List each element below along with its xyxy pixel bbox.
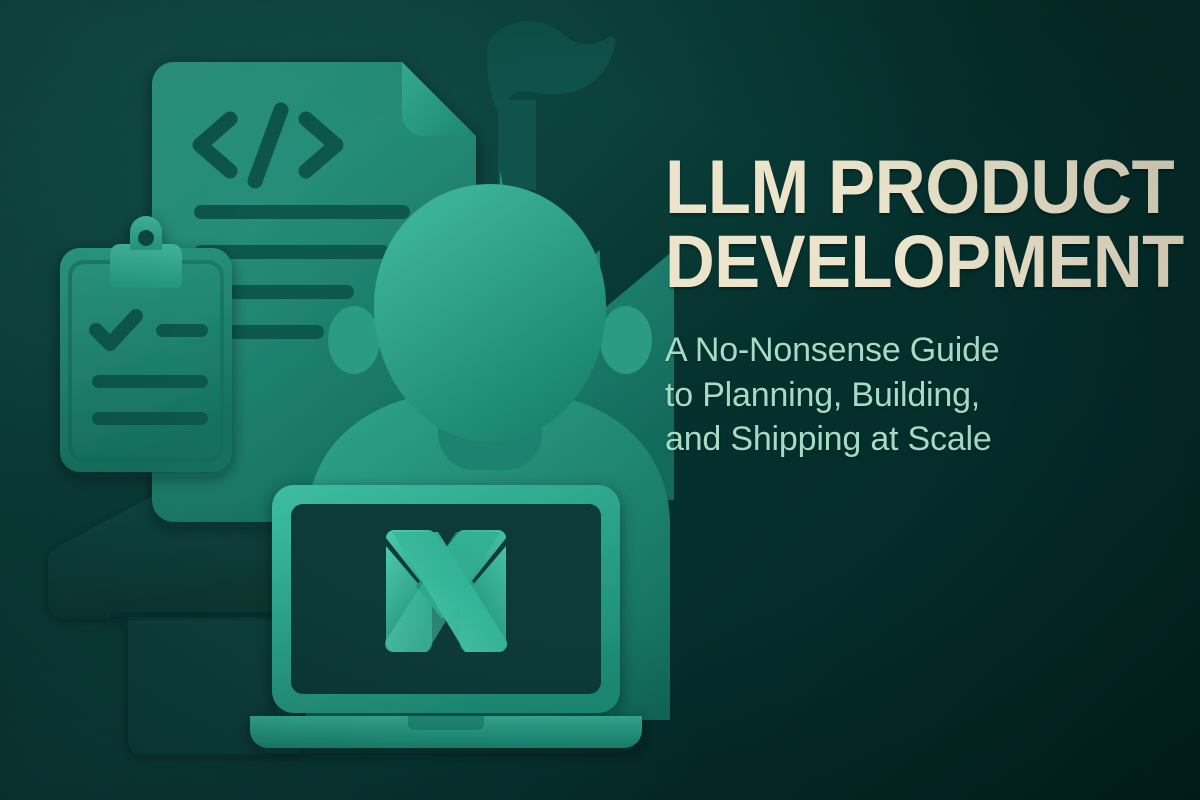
cover-subtitle: A No-Nonsense Guide to Planning, Buildin… [665, 328, 1135, 461]
book-cover: LLM PRODUCT DEVELOPMENT A No-Nonsense Gu… [0, 0, 1200, 800]
clipboard-checklist-icon [60, 216, 232, 472]
subtitle-line-3: and Shipping at Scale [665, 417, 1135, 461]
title-line-2: DEVELOPMENT [665, 225, 1102, 298]
package-box-icon [48, 493, 310, 754]
subtitle-line-1: A No-Nonsense Guide [665, 328, 1135, 372]
title-line-1: LLM PRODUCT [665, 150, 1102, 225]
smoke-puff-icon [487, 21, 616, 110]
page-title: LLM PRODUCT DEVELOPMENT [665, 150, 1135, 298]
subtitle-line-2: to Planning, Building, [665, 373, 1135, 417]
cover-text-block: LLM PRODUCT DEVELOPMENT A No-Nonsense Gu… [665, 150, 1135, 461]
